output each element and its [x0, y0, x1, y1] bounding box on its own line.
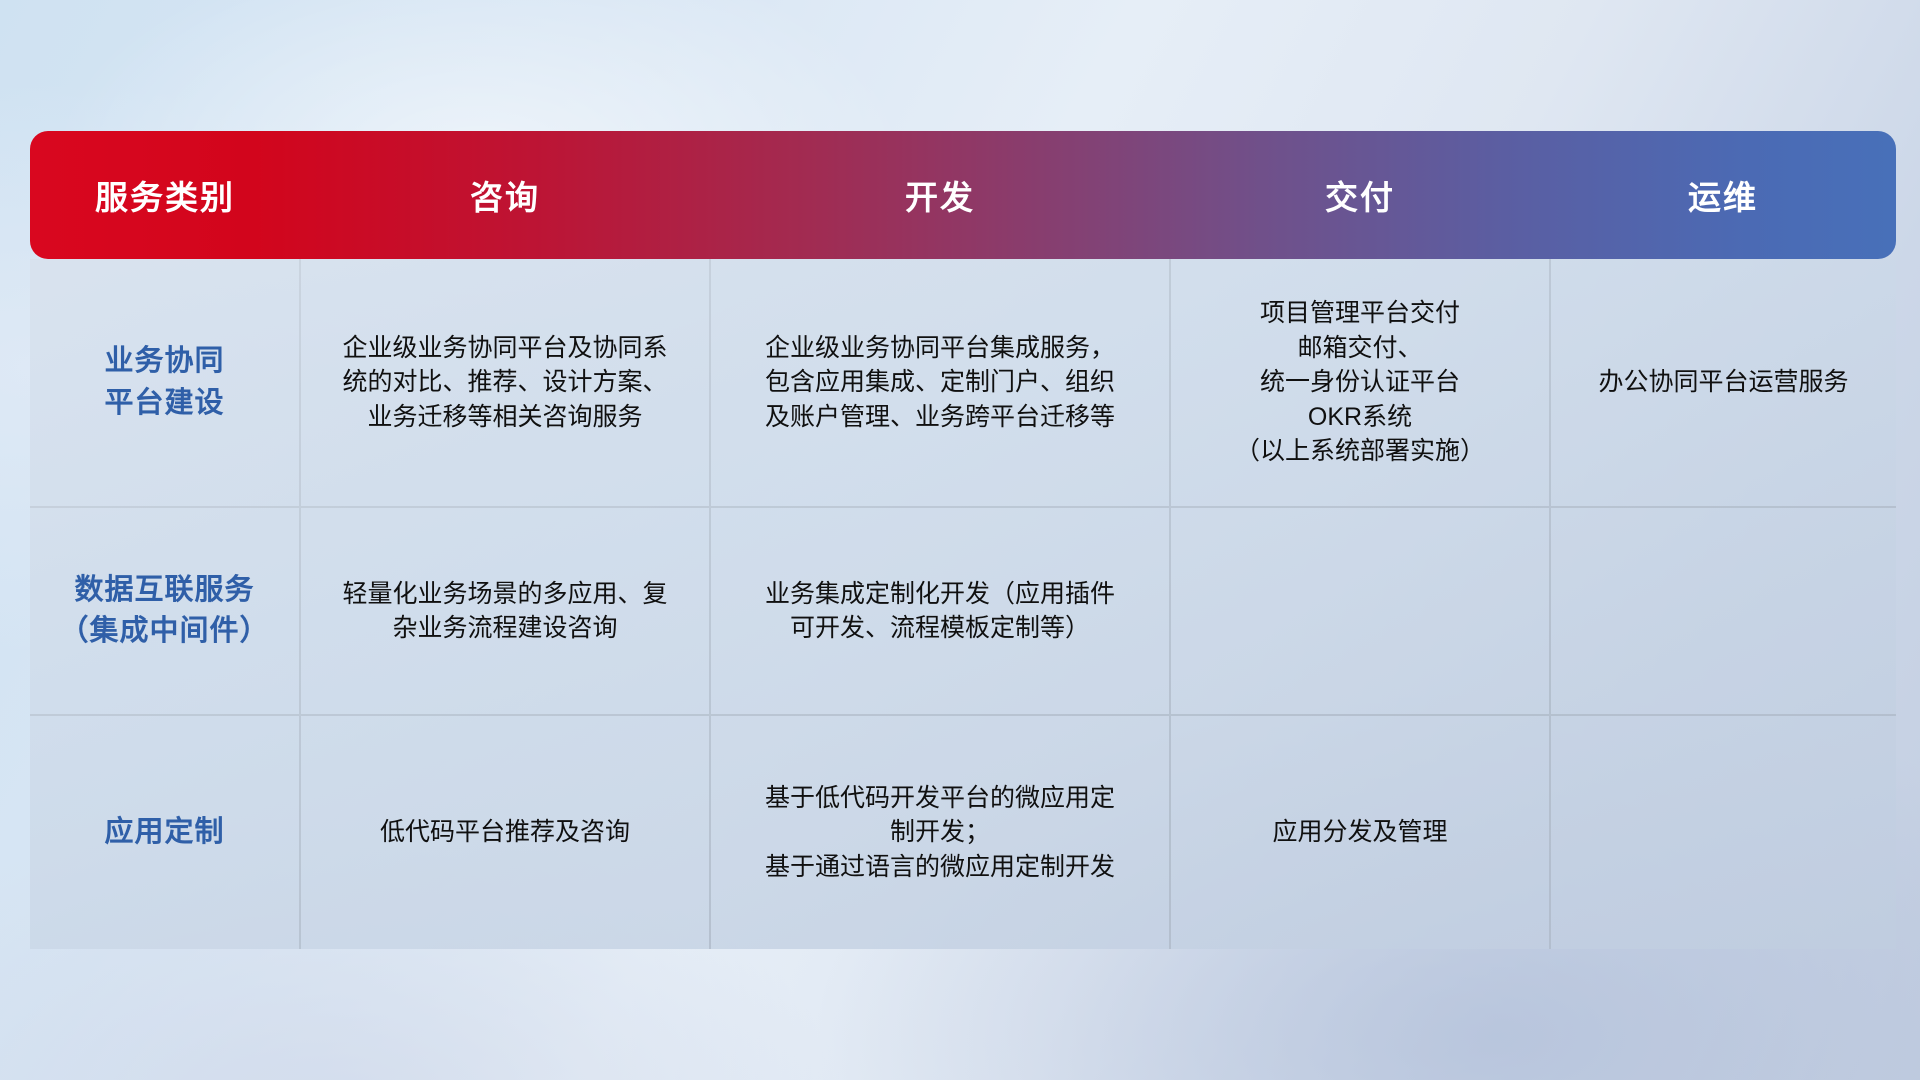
- row-category-label: 应用定制: [30, 715, 300, 949]
- table-body: 业务协同 平台建设 企业级业务协同平台及协同系 统的对比、推荐、设计方案、 业务…: [30, 259, 1896, 949]
- service-matrix-table: 服务类别 咨询 开发 交付 运维 业务协同 平台建设 企业级业务协同平台及协同系…: [30, 131, 1896, 949]
- cell-operations: 办公协同平台运营服务: [1550, 259, 1896, 507]
- table-row: 数据互联服务 （集成中间件） 轻量化业务场景的多应用、复 杂业务流程建设咨询 业…: [30, 507, 1896, 715]
- table-row: 业务协同 平台建设 企业级业务协同平台及协同系 统的对比、推荐、设计方案、 业务…: [30, 259, 1896, 507]
- cell-operations: [1550, 507, 1896, 715]
- column-header-category: 服务类别: [30, 131, 300, 259]
- cell-consulting: 低代码平台推荐及咨询: [300, 715, 710, 949]
- cell-development: 基于低代码开发平台的微应用定 制开发； 基于通过语言的微应用定制开发: [710, 715, 1170, 949]
- cell-delivery: 应用分发及管理: [1170, 715, 1550, 949]
- cell-delivery: [1170, 507, 1550, 715]
- column-header-operations: 运维: [1550, 131, 1896, 259]
- column-header-delivery: 交付: [1170, 131, 1550, 259]
- table-row: 应用定制 低代码平台推荐及咨询 基于低代码开发平台的微应用定 制开发； 基于通过…: [30, 715, 1896, 949]
- cell-consulting: 轻量化业务场景的多应用、复 杂业务流程建设咨询: [300, 507, 710, 715]
- header-row: 服务类别 咨询 开发 交付 运维: [30, 131, 1896, 259]
- cell-delivery: 项目管理平台交付 邮箱交付、 统一身份认证平台 OKR系统 （以上系统部署实施）: [1170, 259, 1550, 507]
- cell-development: 企业级业务协同平台集成服务， 包含应用集成、定制门户、组织 及账户管理、业务跨平…: [710, 259, 1170, 507]
- row-category-label: 业务协同 平台建设: [30, 259, 300, 507]
- column-header-development: 开发: [710, 131, 1170, 259]
- row-category-label: 数据互联服务 （集成中间件）: [30, 507, 300, 715]
- table-header: 服务类别 咨询 开发 交付 运维: [30, 131, 1896, 259]
- column-header-consulting: 咨询: [300, 131, 710, 259]
- cell-operations: [1550, 715, 1896, 949]
- cell-consulting: 企业级业务协同平台及协同系 统的对比、推荐、设计方案、 业务迁移等相关咨询服务: [300, 259, 710, 507]
- cell-development: 业务集成定制化开发（应用插件 可开发、流程模板定制等）: [710, 507, 1170, 715]
